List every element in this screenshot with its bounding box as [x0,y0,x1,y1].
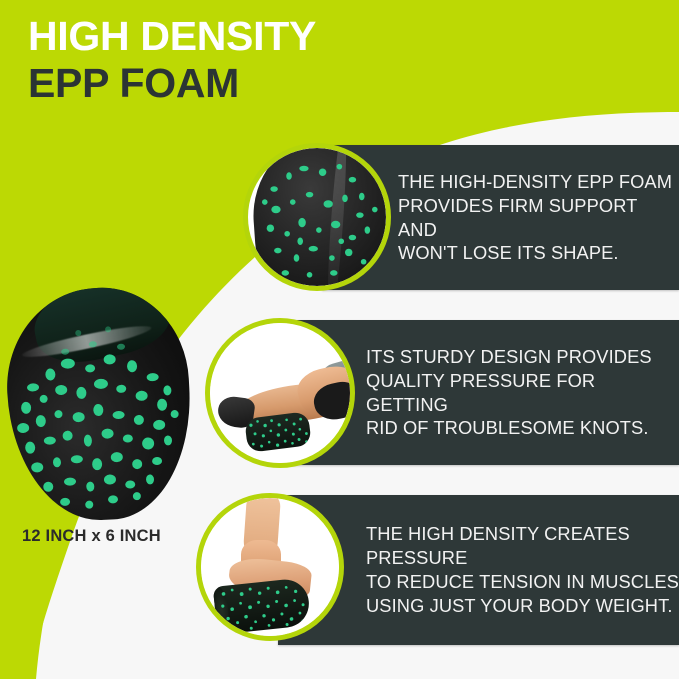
product-image [8,288,190,520]
foam-speckles-product [2,283,196,524]
foam-closeup-thumbnail[interactable] [243,143,391,291]
foam-roller-body [2,283,196,524]
legs-on-roller-thumbnail[interactable] [205,318,355,468]
thumbnail-image-3 [201,498,339,636]
foam-speckles-3 [213,577,312,635]
thumbnail-image-1 [248,148,386,286]
foot-on-roller-thumbnail[interactable] [196,493,344,641]
infographic-page: HIGH DENSITY EPP FOAM THE HIGH-DENSITY E… [0,0,679,679]
product-dimensions-caption: 12 INCH x 6 INCH [22,527,161,546]
thumbnail-image-2 [210,323,350,463]
foam-speckles-1 [248,148,386,286]
roller-under-foot [213,577,312,635]
